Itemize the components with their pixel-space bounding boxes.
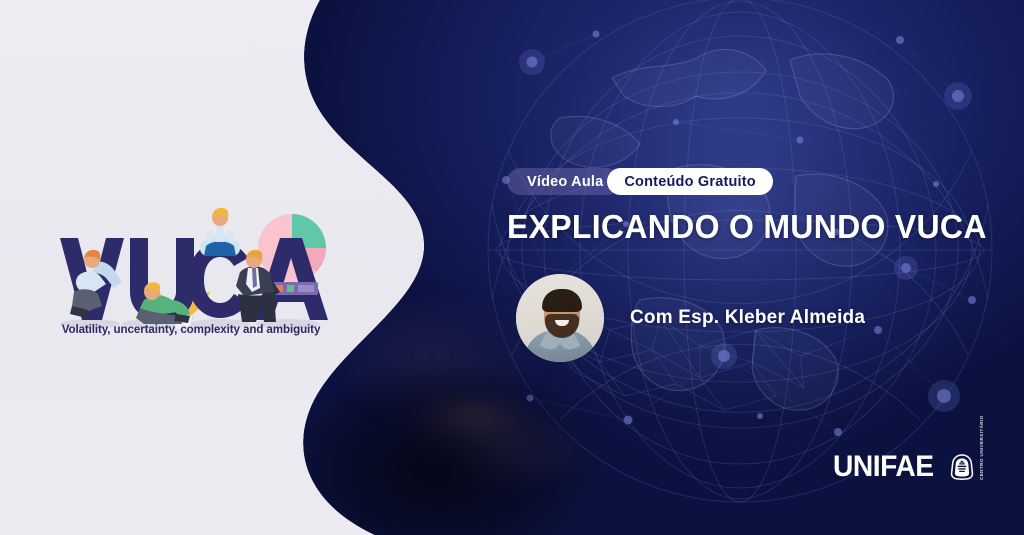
unifae-logo: UNIFAE CENTRO UNIVERSITÁRIO (833, 452, 986, 482)
badge-conteudo-gratuito: Conteúdo Gratuito (607, 168, 772, 195)
badge-row: Vídeo Aula Conteúdo Gratuito (507, 168, 773, 195)
avatar-eyebrow-right (566, 303, 575, 306)
avatar-eye-right (568, 307, 573, 310)
vuca-caption: Volatility, uncertainty, complexity and … (48, 323, 334, 336)
avatar-eye-left (550, 307, 555, 310)
avatar (516, 274, 604, 362)
speaker-row: Com Esp. Kleber Almeida (516, 274, 865, 362)
unifae-vertical-text: CENTRO UNIVERSITÁRIO (979, 454, 986, 480)
person-meditating (200, 208, 240, 256)
page-title: EXPLICANDO O MUNDO VUCA (507, 208, 987, 246)
avatar-hair (542, 289, 582, 312)
university-crest-icon (949, 453, 975, 481)
speaker-name: Com Esp. Kleber Almeida (630, 307, 865, 329)
badge-video-aula: Vídeo Aula (507, 168, 620, 195)
unifae-wordmark: UNIFAE (833, 452, 934, 482)
promo-banner: Vídeo Aula Conteúdo Gratuito EXPLICANDO … (0, 0, 1024, 535)
bar-chart-decoration (272, 282, 318, 295)
avatar-eyebrow-left (548, 303, 557, 306)
